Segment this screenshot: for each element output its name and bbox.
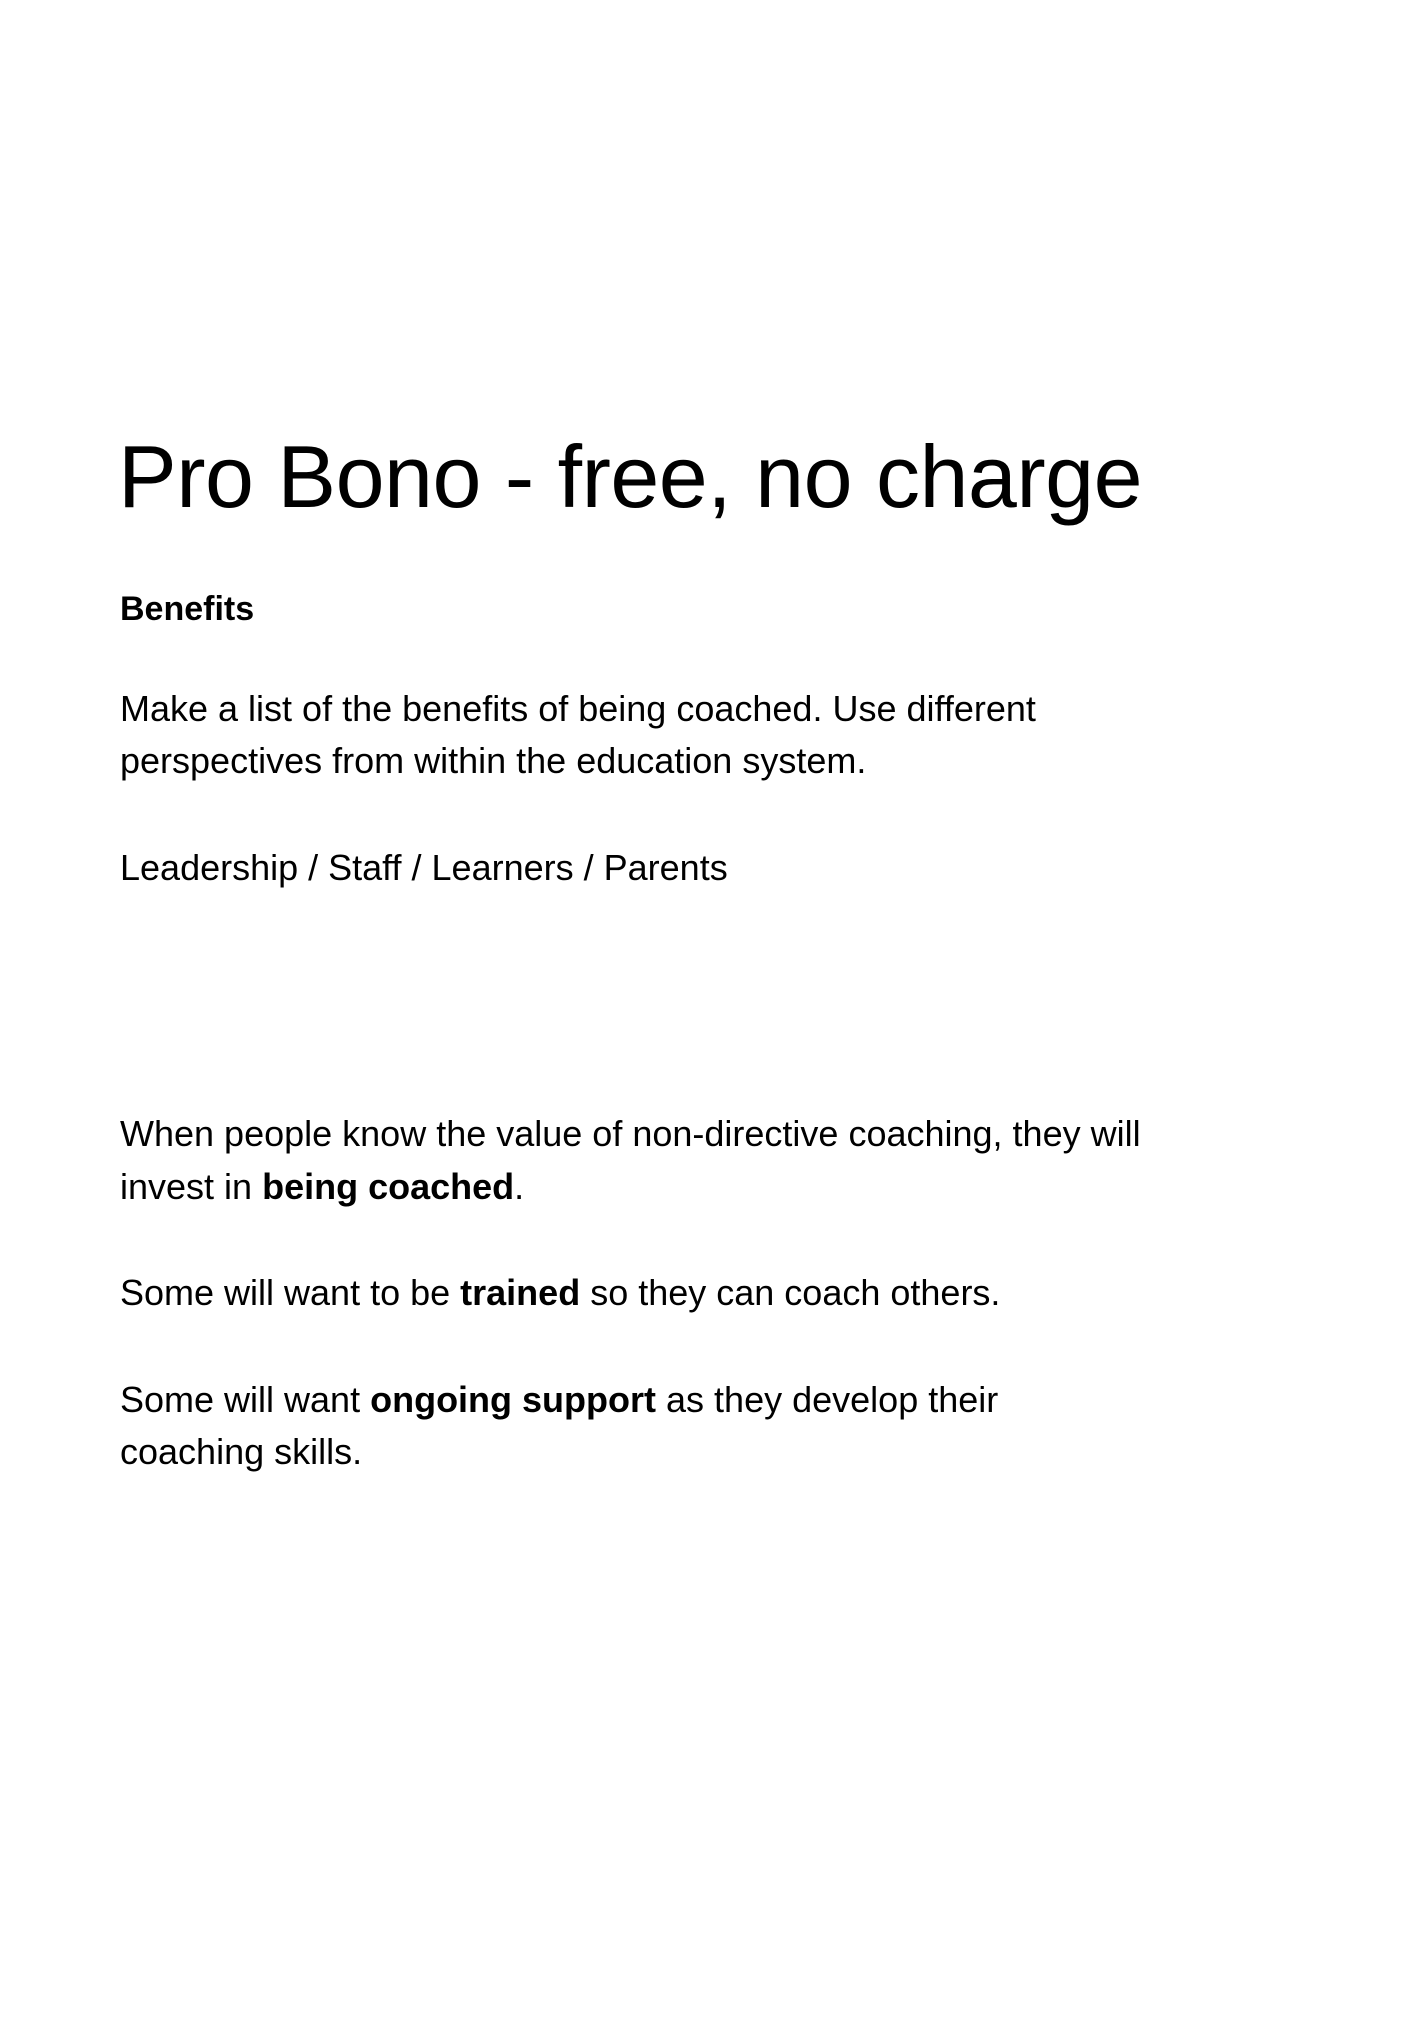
- paragraph-instruction: Make a list of the benefits of being coa…: [120, 683, 1150, 788]
- document-page: Pro Bono - free, no charge Benefits Make…: [0, 0, 1428, 2018]
- section-heading-benefits: Benefits: [120, 588, 1300, 631]
- support-emphasis: ongoing support: [370, 1379, 656, 1420]
- support-text-prefix: Some will want: [120, 1379, 370, 1420]
- instruction-line-1: Make a list of the benefits of being coa…: [120, 688, 896, 729]
- value-text-suffix: .: [514, 1166, 524, 1207]
- slide-body: Benefits Make a list of the benefits of …: [120, 588, 1300, 1479]
- value-emphasis-being-coached: being coached: [262, 1166, 514, 1207]
- trained-text-prefix: Some will want to be: [120, 1272, 460, 1313]
- vertical-spacer: [120, 948, 1300, 1108]
- paragraph-training: Some will want to be trained so they can…: [120, 1267, 1150, 1320]
- paragraph-perspectives: Leadership / Staff / Learners / Parents: [120, 842, 1150, 895]
- page-title: Pro Bono - free, no charge: [118, 431, 1428, 523]
- paragraph-value-of-coaching: When people know the value of non-direct…: [120, 1108, 1150, 1213]
- trained-text-suffix: so they can coach others.: [580, 1272, 1000, 1313]
- trained-emphasis: trained: [460, 1272, 580, 1313]
- paragraph-ongoing-support: Some will want ongoing support as they d…: [120, 1374, 1150, 1479]
